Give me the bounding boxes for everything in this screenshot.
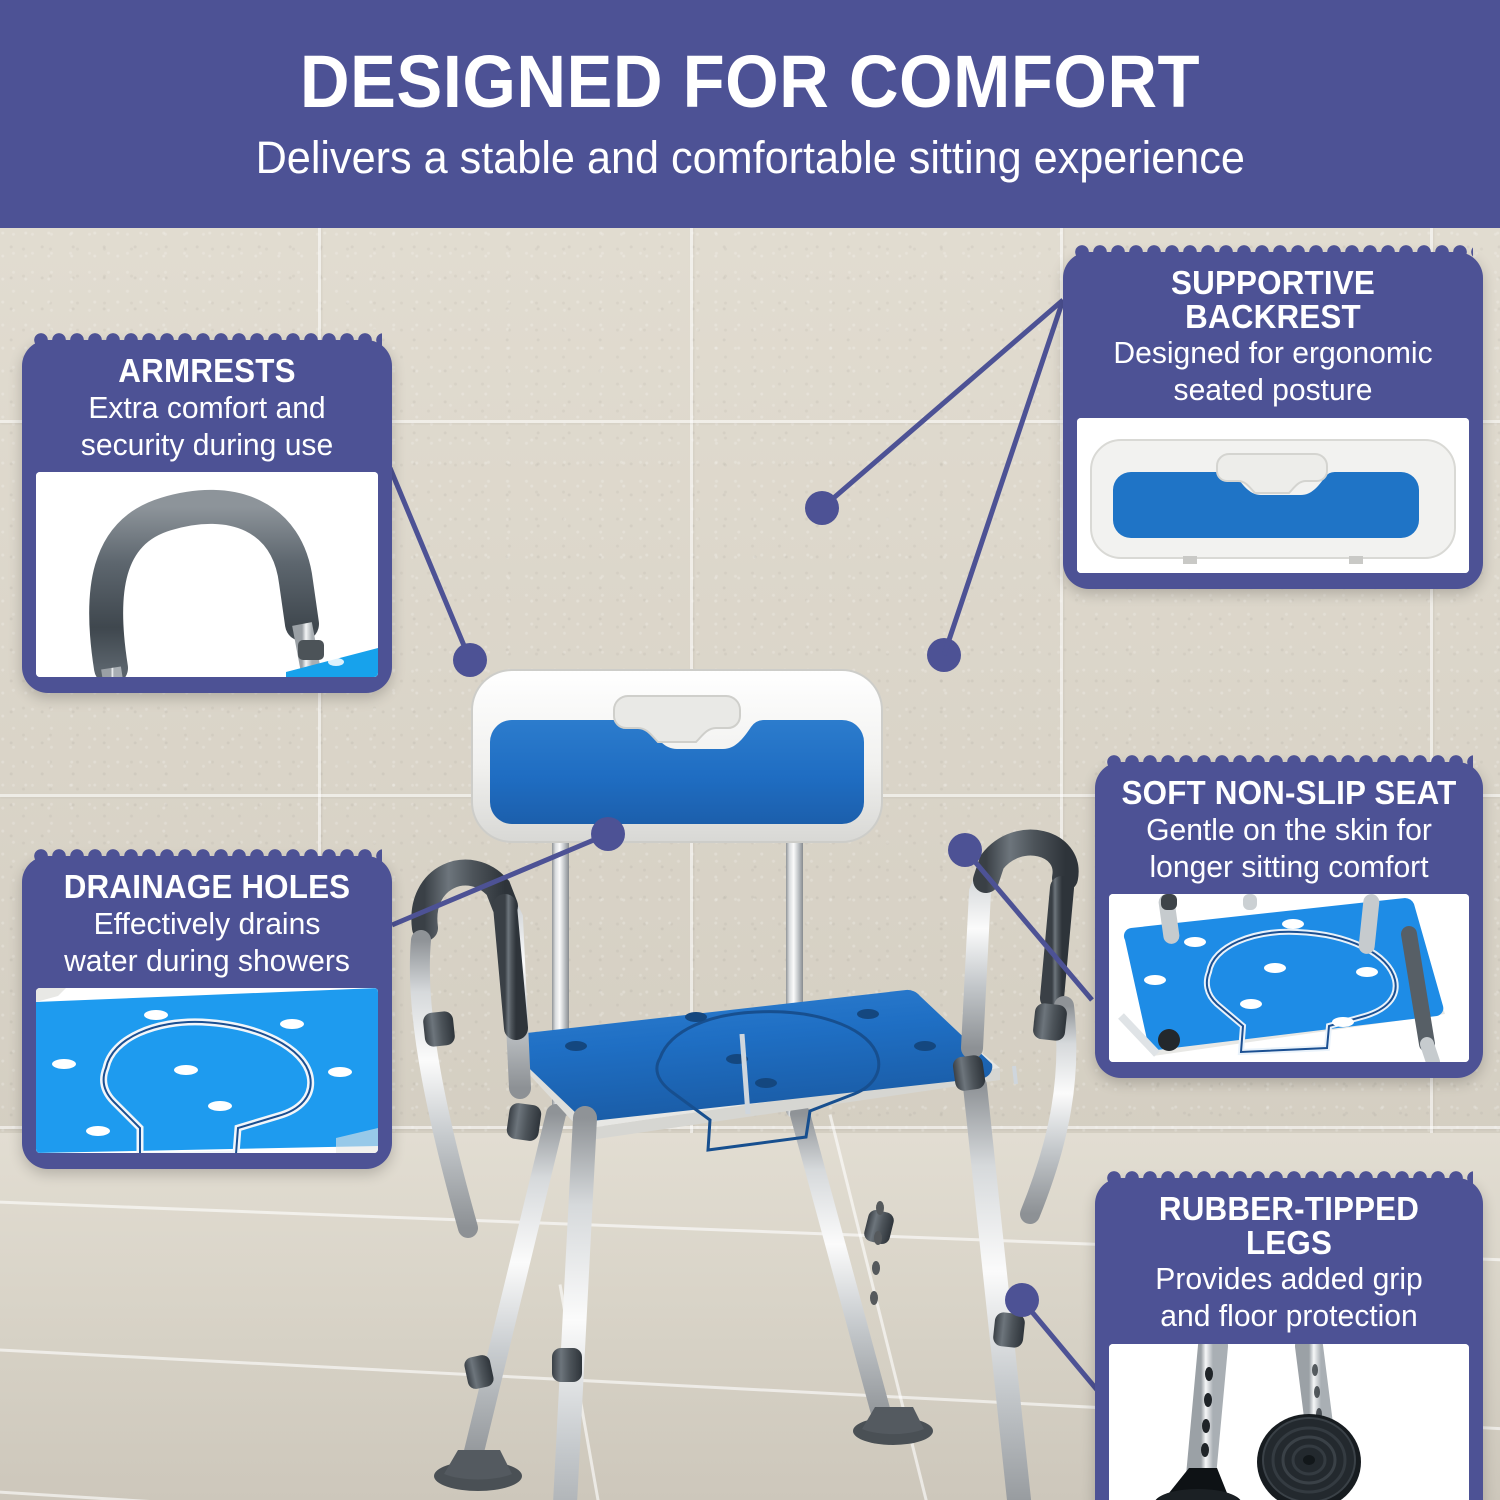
callout-drainage-subtitle-line1: Effectively drains bbox=[41, 907, 373, 941]
chair-rear-legs bbox=[463, 1114, 896, 1468]
callout-backrest-title: SUPPORTIVE BACKREST bbox=[1087, 266, 1459, 333]
page-subtitle: Delivers a stable and comfortable sittin… bbox=[255, 133, 1244, 183]
callout-armrests-subtitle-line1: Extra comfort and bbox=[41, 391, 373, 425]
callout-drainage-subtitle-line2: water during showers bbox=[41, 944, 373, 978]
callout-armrests-photo bbox=[36, 472, 378, 677]
callout-legs-subtitle-line2: and floor protection bbox=[1114, 1299, 1463, 1333]
callout-armrests[interactable]: ARMRESTS Extra comfort and security duri… bbox=[22, 340, 392, 693]
backrest bbox=[472, 670, 882, 842]
page-title: DESIGNED FOR COMFORT bbox=[300, 45, 1200, 119]
rubber-foot bbox=[434, 1450, 522, 1491]
callout-backrest-subtitle-line2: seated posture bbox=[1083, 373, 1463, 407]
rubber-foot bbox=[853, 1407, 933, 1445]
callout-backrest-photo bbox=[1077, 418, 1469, 573]
callout-legs-photo bbox=[1109, 1344, 1469, 1500]
callout-legs-subtitle-line1: Provides added grip bbox=[1114, 1262, 1463, 1296]
callout-seat-subtitle-line1: Gentle on the skin for bbox=[1114, 813, 1463, 847]
callout-legs-title: RUBBER-TIPPED LEGS bbox=[1118, 1192, 1460, 1259]
chair-front-legs bbox=[434, 1086, 1072, 1500]
callout-seat-subtitle-line2: longer sitting comfort bbox=[1114, 850, 1463, 884]
callout-drainage-title: DRAINAGE HOLES bbox=[45, 870, 370, 904]
infographic-canvas: DESIGNED FOR COMFORT Delivers a stable a… bbox=[0, 0, 1500, 1500]
callout-seat-photo bbox=[1109, 894, 1469, 1062]
callout-drainage-photo bbox=[36, 988, 378, 1153]
armrest-left bbox=[420, 873, 543, 1228]
header-banner: DESIGNED FOR COMFORT Delivers a stable a… bbox=[0, 0, 1500, 228]
callout-seat-title: SOFT NON-SLIP SEAT bbox=[1118, 776, 1460, 810]
callout-armrests-title: ARMRESTS bbox=[45, 354, 370, 388]
callout-backrest-subtitle-line1: Designed for ergonomic bbox=[1083, 336, 1463, 370]
armrest-right bbox=[952, 843, 1068, 1214]
callout-soft-non-slip-seat[interactable]: SOFT NON-SLIP SEAT Gentle on the skin fo… bbox=[1095, 762, 1483, 1078]
callout-rubber-tipped-legs[interactable]: RUBBER-TIPPED LEGS Provides added grip a… bbox=[1095, 1178, 1483, 1500]
callout-armrests-subtitle-line2: security during use bbox=[41, 428, 373, 462]
callout-drainage-holes[interactable]: DRAINAGE HOLES Effectively drains water … bbox=[22, 856, 392, 1169]
callout-supportive-backrest[interactable]: SUPPORTIVE BACKREST Designed for ergonom… bbox=[1063, 252, 1483, 589]
